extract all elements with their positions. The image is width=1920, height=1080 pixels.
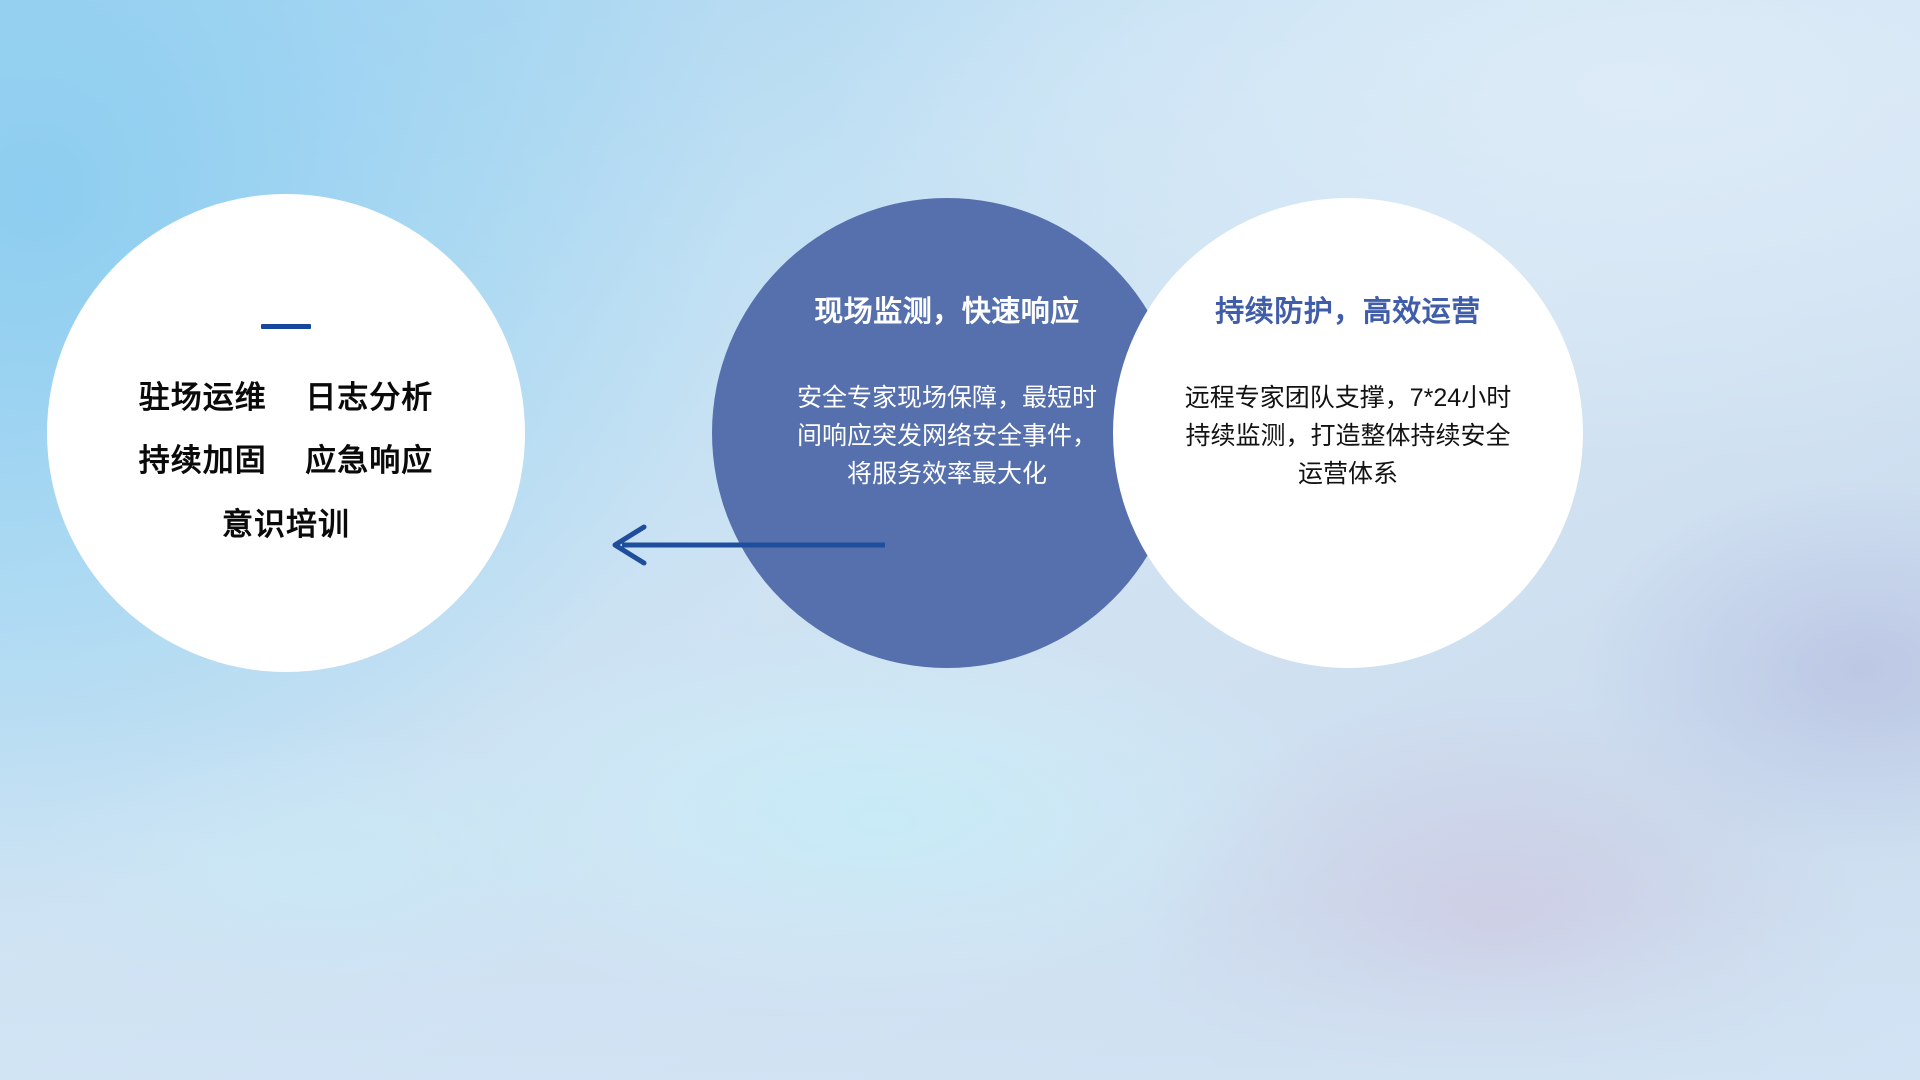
capability-line-1: 驻场运维 日志分析 bbox=[139, 381, 433, 415]
continuous-protection-circle[interactable]: 持续防护，高效运营 远程专家团队支撑，7*24小时持续监测，打造整体持续安全运营… bbox=[1113, 198, 1583, 668]
slide-canvas: 驻场运维 日志分析 持续加固 应急响应 意识培训 现场监测，快速响应 安全专家现… bbox=[0, 0, 1920, 1080]
continuous-protection-heading: 持续防护，高效运营 bbox=[1215, 296, 1481, 329]
service-capabilities-content: 驻场运维 日志分析 持续加固 应急响应 意识培训 bbox=[47, 194, 525, 672]
arrow-left-icon bbox=[600, 505, 890, 585]
service-capabilities-circle[interactable]: 驻场运维 日志分析 持续加固 应急响应 意识培训 bbox=[47, 194, 525, 672]
onsite-monitoring-circle[interactable]: 现场监测，快速响应 安全专家现场保障，最短时间响应突发网络安全事件，将服务效率最… bbox=[712, 198, 1182, 668]
onsite-monitoring-heading: 现场监测，快速响应 bbox=[814, 296, 1080, 329]
capability-line-2: 持续加固 应急响应 bbox=[139, 444, 433, 478]
onsite-monitoring-body: 安全专家现场保障，最短时间响应突发网络安全事件，将服务效率最大化 bbox=[797, 379, 1097, 493]
continuous-protection-body: 远程专家团队支撑，7*24小时持续监测，打造整体持续安全运营体系 bbox=[1178, 379, 1518, 493]
onsite-monitoring-content: 现场监测，快速响应 安全专家现场保障，最短时间响应突发网络安全事件，将服务效率最… bbox=[712, 198, 1182, 668]
capability-line-3: 意识培训 bbox=[222, 508, 350, 542]
continuous-protection-content: 持续防护，高效运营 远程专家团队支撑，7*24小时持续监测，打造整体持续安全运营… bbox=[1113, 198, 1583, 668]
accent-divider bbox=[261, 324, 311, 329]
